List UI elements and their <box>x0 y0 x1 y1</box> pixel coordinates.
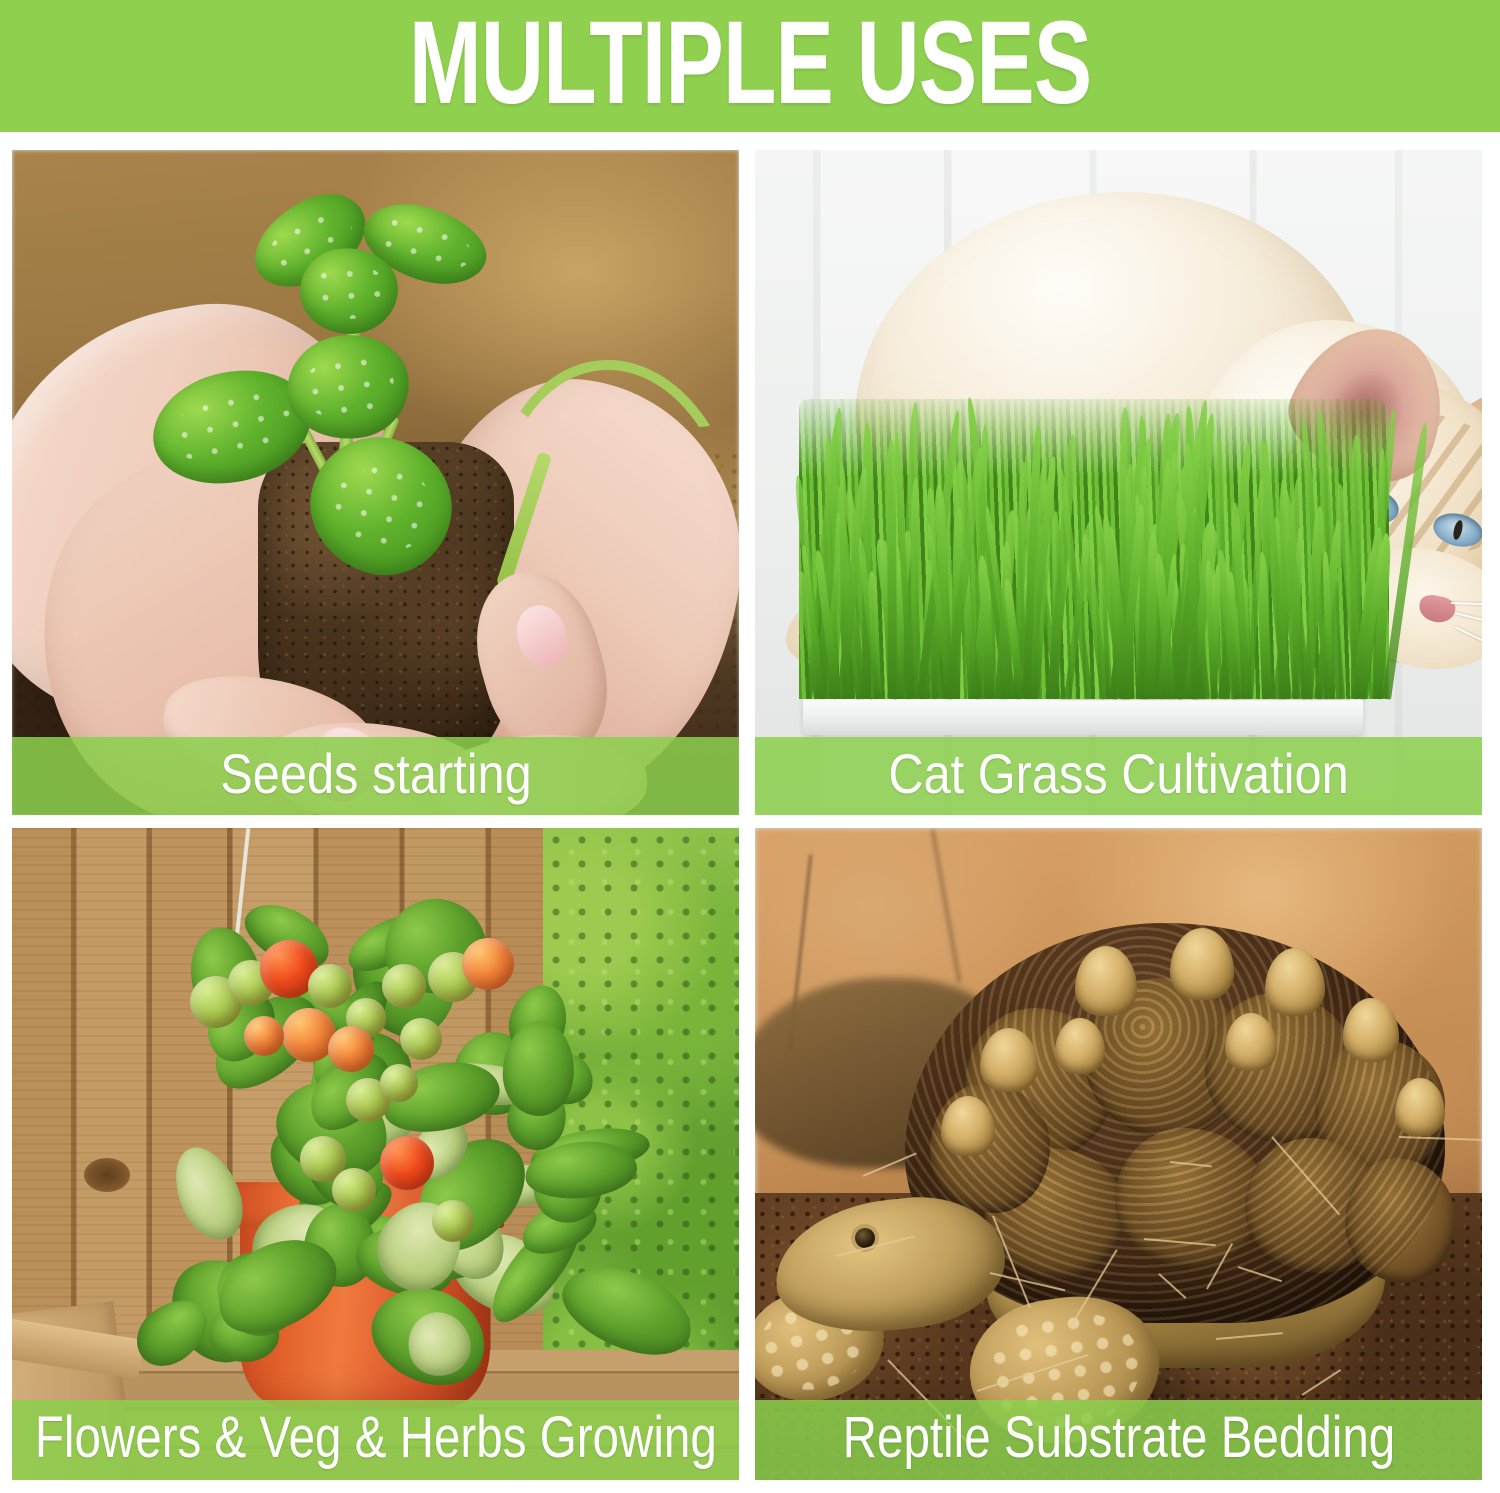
caption-bar: Seeds starting <box>12 737 739 815</box>
tortoise-scute <box>1115 1128 1265 1268</box>
use-case-tile-reptile-substrate-bedding[interactable]: Reptile Substrate Bedding <box>755 828 1482 1480</box>
cherry-tomato <box>382 964 426 1008</box>
caption-bar: Flowers & Veg & Herbs Growing <box>12 1400 739 1480</box>
use-case-tile-seeds-starting[interactable]: Seeds starting <box>12 150 739 815</box>
cherry-tomato <box>432 1200 474 1242</box>
cherry-tomato <box>328 1026 374 1072</box>
header-banner: MULTIPLE USES <box>0 0 1500 132</box>
page-title: MULTIPLE USES <box>409 4 1092 128</box>
use-case-grid: Seeds starting Cat Gra <box>12 150 1488 1481</box>
cherry-tomato <box>332 1168 376 1212</box>
use-case-tile-flowers-veg-herbs-growing[interactable]: Flowers & Veg & Herbs Growing <box>12 828 739 1480</box>
tomato-plant-foliage <box>132 868 592 1348</box>
caption-bar: Reptile Substrate Bedding <box>755 1400 1482 1480</box>
use-case-tile-cat-grass-cultivation[interactable]: Cat Grass Cultivation <box>755 150 1482 815</box>
tile-caption: Seeds starting <box>220 746 531 806</box>
cherry-tomato <box>380 1064 418 1102</box>
photo-cat-grass-cultivation <box>755 150 1482 815</box>
cherry-tomato <box>462 938 514 990</box>
cherry-tomato <box>308 964 352 1008</box>
tile-caption: Flowers & Veg & Herbs Growing <box>35 1409 717 1471</box>
cherry-tomato <box>380 1136 434 1190</box>
tile-caption: Reptile Substrate Bedding <box>842 1409 1395 1471</box>
tomato-leaf <box>162 1137 254 1249</box>
caption-bar: Cat Grass Cultivation <box>755 737 1482 815</box>
tortoise-scute <box>1345 1158 1455 1283</box>
cherry-tomato <box>400 1018 442 1060</box>
photo-flowers-veg-herbs-growing <box>12 828 739 1480</box>
tile-caption: Cat Grass Cultivation <box>888 746 1348 806</box>
cherry-tomato <box>244 1016 284 1056</box>
photo-seeds-starting <box>12 150 739 815</box>
wood-knot <box>84 1158 130 1192</box>
photo-reptile-substrate-bedding <box>755 828 1482 1480</box>
